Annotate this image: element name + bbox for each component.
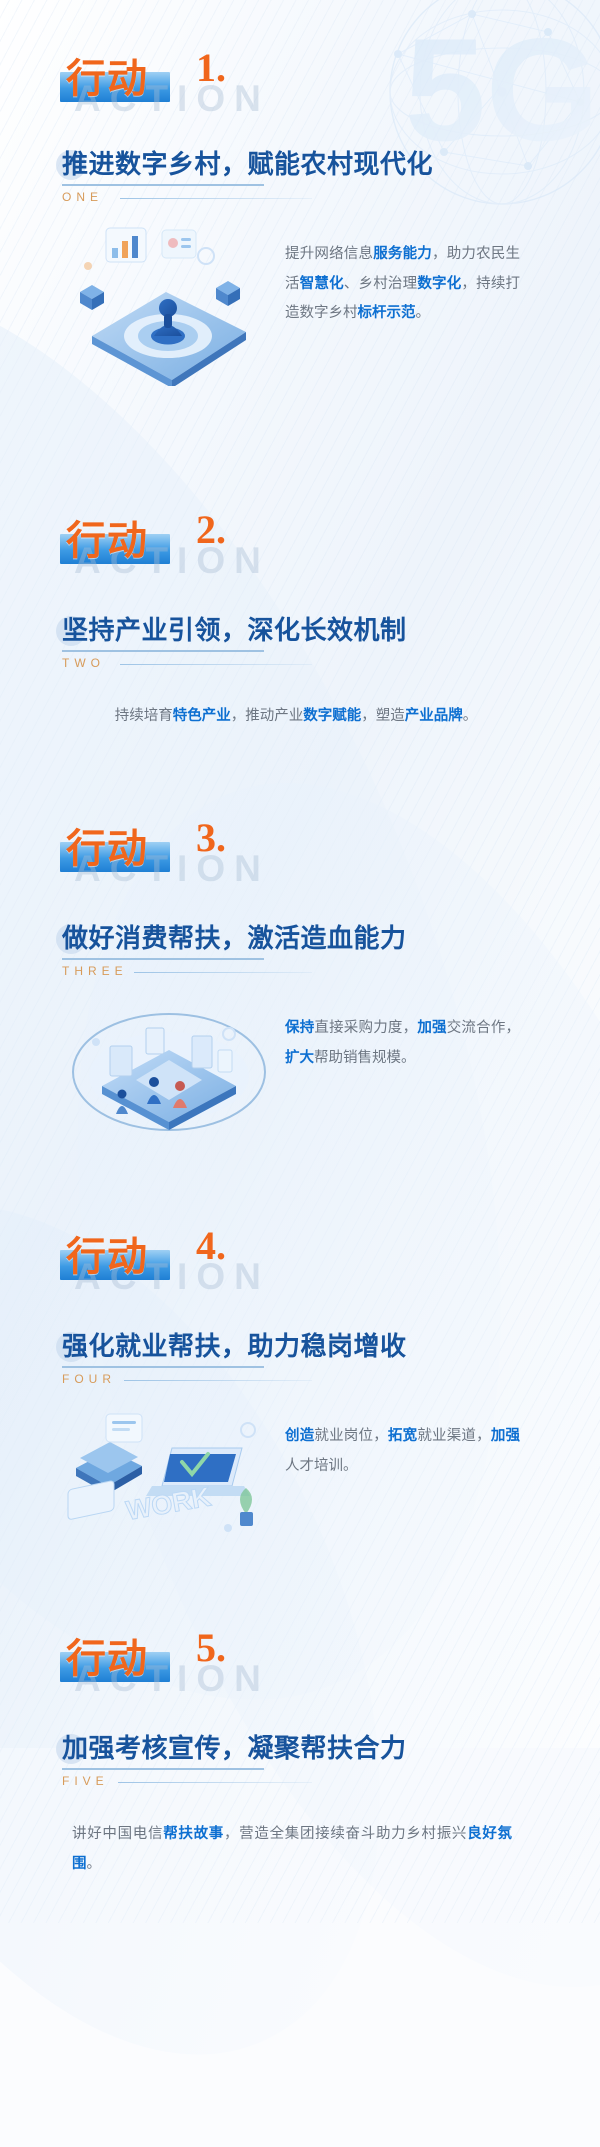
action-number: 4. bbox=[196, 1222, 226, 1269]
action-label: 行动 bbox=[66, 1626, 148, 1684]
paragraph-run: 就业渠道， bbox=[417, 1428, 491, 1444]
section-action-3: ACTION 行动 3. 做好消费帮扶，激活造血能力 THREE bbox=[0, 736, 600, 1144]
highlight-phrase: 产业品牌 bbox=[405, 708, 463, 724]
ordinal-line bbox=[120, 198, 312, 199]
paragraph-run: 人才培训。 bbox=[285, 1458, 358, 1474]
section-body-4: WORK 创造就业岗位，拓宽就业渠道，加强人才培训。 bbox=[0, 1422, 600, 1542]
highlight-phrase: 拓宽 bbox=[388, 1428, 417, 1444]
digital-village-illustration bbox=[66, 226, 276, 386]
action-number: 1. bbox=[196, 44, 226, 91]
section-body-2: 持续培育特色产业，推动产业数字赋能，塑造产业品牌。 bbox=[0, 702, 600, 736]
highlight-phrase: 保持 bbox=[285, 1020, 314, 1036]
highlight-phrase: 服务能力 bbox=[373, 246, 432, 262]
title-block-1: 推进数字乡村，赋能农村现代化 bbox=[0, 144, 600, 181]
action-label: 行动 bbox=[66, 46, 148, 104]
ordinal-row-3: THREE bbox=[62, 964, 600, 980]
action-header-5: ACTION 行动 5. bbox=[0, 1608, 600, 1694]
ordinal-label: FIVE bbox=[62, 1774, 109, 1788]
highlight-phrase: 数字化 bbox=[417, 276, 461, 292]
paragraph-run: 。 bbox=[416, 305, 431, 321]
paragraph-run: 。 bbox=[87, 1856, 102, 1872]
highlight-phrase: 智慧化 bbox=[300, 276, 344, 292]
paragraph-run: ，营造全集团接续奋斗助力乡村振兴 bbox=[224, 1826, 467, 1842]
paragraph-run: 。 bbox=[463, 708, 478, 724]
ordinal-label: ONE bbox=[62, 190, 103, 204]
highlight-phrase: 特色产业 bbox=[173, 708, 231, 724]
ordinal-row-4: FOUR bbox=[62, 1372, 600, 1388]
section-paragraph-1: 提升网络信息服务能力，助力农民生活智慧化、乡村治理数字化，持续打造数字乡村标杆示… bbox=[285, 240, 520, 329]
section-title: 做好消费帮扶，激活造血能力 bbox=[62, 918, 407, 955]
section-body-1: 提升网络信息服务能力，助力农民生活智慧化、乡村治理数字化，持续打造数字乡村标杆示… bbox=[0, 240, 600, 398]
action-number: 3. bbox=[196, 814, 226, 861]
highlight-phrase: 加强 bbox=[491, 1428, 520, 1444]
action-header-4: ACTION 行动 4. bbox=[0, 1206, 600, 1292]
paragraph-run: ，塑造 bbox=[361, 708, 405, 724]
action-number: 2. bbox=[196, 506, 226, 553]
section-title: 坚持产业引领，深化长效机制 bbox=[62, 610, 407, 647]
paragraph-run: 、乡村治理 bbox=[344, 276, 418, 292]
section-paragraph-4: 创造就业岗位，拓宽就业渠道，加强人才培训。 bbox=[285, 1422, 520, 1481]
ordinal-row-1: ONE bbox=[62, 190, 600, 206]
section-title: 加强考核宣传，凝聚帮扶合力 bbox=[62, 1728, 407, 1765]
paragraph-run: ，推动产业 bbox=[231, 708, 304, 724]
section-paragraph-5: 讲好中国电信帮扶故事，营造全集团接续奋斗助力乡村振兴良好氛围。 bbox=[72, 1820, 512, 1879]
section-paragraph-3: 保持直接采购力度，加强交流合作，扩大帮助销售规模。 bbox=[285, 1014, 520, 1073]
action-label: 行动 bbox=[66, 816, 148, 874]
paragraph-run: 直接采购力度， bbox=[314, 1020, 417, 1036]
ordinal-line bbox=[124, 1380, 312, 1381]
action-header-2: ACTION 行动 2. bbox=[0, 490, 600, 576]
section-title: 推进数字乡村，赋能农村现代化 bbox=[62, 144, 433, 181]
paragraph-run: 持续培育 bbox=[115, 708, 173, 724]
paragraph-run: 帮助销售规模。 bbox=[314, 1050, 416, 1066]
title-underline bbox=[62, 184, 264, 186]
highlight-phrase: 创造 bbox=[285, 1428, 314, 1444]
paragraph-run: 就业岗位， bbox=[314, 1428, 388, 1444]
action-header-3: ACTION 行动 3. bbox=[0, 798, 600, 884]
section-action-5: ACTION 行动 5. 加强考核宣传，凝聚帮扶合力 FIVE 讲好中国电信帮扶… bbox=[0, 1542, 600, 1890]
ordinal-line bbox=[118, 1782, 312, 1783]
title-underline bbox=[62, 650, 264, 652]
section-body-3: 保持直接采购力度，加强交流合作，扩大帮助销售规模。 bbox=[0, 1014, 600, 1144]
section-action-1: ACTION 行动 1. 推进数字乡村，赋能农村现代化 ONE bbox=[0, 0, 600, 398]
section-action-4: ACTION 行动 4. 强化就业帮扶，助力稳岗增收 FOUR bbox=[0, 1144, 600, 1542]
action-label: 行动 bbox=[66, 508, 148, 566]
ordinal-row-5: FIVE bbox=[62, 1774, 600, 1790]
title-block-3: 做好消费帮扶，激活造血能力 bbox=[0, 918, 600, 955]
section-body-5: 讲好中国电信帮扶故事，营造全集团接续奋斗助力乡村振兴良好氛围。 bbox=[0, 1820, 600, 1890]
title-block-4: 强化就业帮扶，助力稳岗增收 bbox=[0, 1326, 600, 1363]
ordinal-label: FOUR bbox=[62, 1372, 116, 1386]
work-employment-illustration: WORK bbox=[62, 1400, 282, 1550]
section-title: 强化就业帮扶，助力稳岗增收 bbox=[62, 1326, 407, 1363]
highlight-phrase: 扩大 bbox=[285, 1050, 314, 1066]
svg-text:WORK: WORK bbox=[124, 1481, 214, 1525]
section-paragraph-2: 持续培育特色产业，推动产业数字赋能，塑造产业品牌。 bbox=[86, 702, 506, 732]
title-underline bbox=[62, 958, 264, 960]
ordinal-label: TWO bbox=[62, 656, 105, 670]
highlight-phrase: 帮扶故事 bbox=[163, 1826, 224, 1842]
highlight-phrase: 加强 bbox=[417, 1020, 446, 1036]
action-number: 5. bbox=[196, 1624, 226, 1671]
ordinal-row-2: TWO bbox=[62, 656, 600, 672]
action-label: 行动 bbox=[66, 1224, 148, 1282]
title-block-2: 坚持产业引领，深化长效机制 bbox=[0, 610, 600, 647]
ordinal-label: THREE bbox=[62, 964, 128, 978]
consumer-assistance-illustration bbox=[62, 994, 277, 1144]
ordinal-line bbox=[134, 972, 312, 973]
paragraph-run: 交流合作， bbox=[447, 1020, 520, 1036]
infographic-page: ACTION 行动 1. 推进数字乡村，赋能农村现代化 ONE bbox=[0, 0, 600, 1890]
title-block-5: 加强考核宣传，凝聚帮扶合力 bbox=[0, 1728, 600, 1765]
title-underline bbox=[62, 1768, 264, 1770]
title-underline bbox=[62, 1366, 264, 1368]
action-header-1: ACTION 行动 1. bbox=[0, 28, 600, 114]
paragraph-run: 讲好中国电信 bbox=[72, 1826, 163, 1842]
section-action-2: ACTION 行动 2. 坚持产业引领，深化长效机制 TWO 持续培育特色产业，… bbox=[0, 398, 600, 736]
ordinal-line bbox=[120, 664, 312, 665]
highlight-phrase: 标杆示范 bbox=[358, 305, 416, 321]
highlight-phrase: 数字赋能 bbox=[303, 708, 361, 724]
paragraph-run: 提升网络信息 bbox=[285, 246, 373, 262]
